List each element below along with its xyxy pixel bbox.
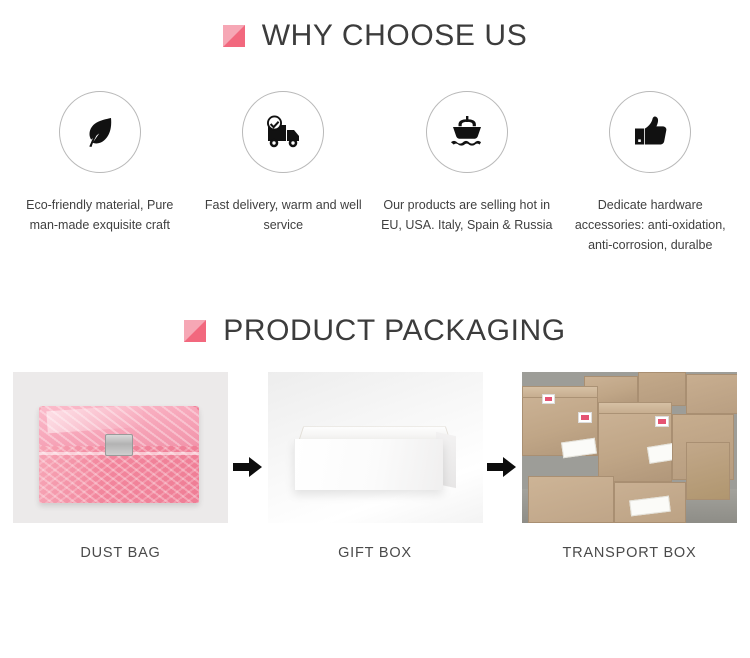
feature-fast-delivery: Fast delivery, warm and well service xyxy=(192,91,376,255)
feature-hardware-accessories: Dedicate hardware accessories: anti-oxid… xyxy=(559,91,743,255)
carton xyxy=(638,372,686,406)
pink-square-icon xyxy=(223,25,245,47)
packaging-caption: GIFT BOX xyxy=(338,545,412,561)
red-sticker xyxy=(542,394,555,404)
features-row: Eco-friendly material, Pure man-made exq… xyxy=(0,91,750,255)
carton xyxy=(686,374,737,414)
stacked-cartons-photo xyxy=(522,372,737,523)
leaf-icon xyxy=(79,111,121,153)
feature-icon-circle xyxy=(242,91,324,173)
product-packaging-heading: PRODUCT PACKAGING xyxy=(0,314,750,348)
carton-top-flap xyxy=(522,386,598,398)
pink-square-icon xyxy=(184,320,206,342)
feature-text: Dedicate hardware accessories: anti-oxid… xyxy=(562,195,738,255)
pink-jewellery-box-photo xyxy=(13,372,228,523)
feature-text: Fast delivery, warm and well service xyxy=(195,195,371,235)
arrow-right-icon xyxy=(231,391,265,542)
packaging-caption: TRANSPORT BOX xyxy=(563,545,697,561)
feature-eco-friendly: Eco-friendly material, Pure man-made exq… xyxy=(8,91,192,255)
red-sticker xyxy=(655,416,669,427)
feature-icon-circle xyxy=(609,91,691,173)
carton-top-flap xyxy=(598,402,672,414)
packaging-items-row: DUST BAG GIFT BOX xyxy=(0,372,750,561)
feature-text: Our products are selling hot in EU, USA.… xyxy=(379,195,555,235)
ship-icon xyxy=(445,111,489,153)
why-choose-us-heading: WHY CHOOSE US xyxy=(0,19,750,53)
arrow-right-icon xyxy=(485,391,519,542)
jewellery-box-clasp xyxy=(105,434,133,456)
carton xyxy=(528,476,614,523)
packaging-caption: DUST BAG xyxy=(80,545,160,561)
feature-icon-circle xyxy=(426,91,508,173)
packaging-item-gift-box: GIFT BOX xyxy=(268,372,483,561)
feature-selling-hot: Our products are selling hot in EU, USA.… xyxy=(375,91,559,255)
carton xyxy=(686,442,730,500)
thumbs-up-icon xyxy=(628,111,672,153)
jewellery-box-body xyxy=(39,406,199,503)
gift-box-front xyxy=(294,439,443,490)
white-gift-box-photo xyxy=(268,372,483,523)
product-packaging-section: PRODUCT PACKAGING DUST BAG xyxy=(0,314,750,561)
why-choose-us-title: WHY CHOOSE US xyxy=(262,19,528,53)
feature-icon-circle xyxy=(59,91,141,173)
feature-text: Eco-friendly material, Pure man-made exq… xyxy=(12,195,188,235)
product-packaging-title: PRODUCT PACKAGING xyxy=(223,314,565,348)
packaging-item-dust-bag: DUST BAG xyxy=(13,372,228,561)
delivery-truck-icon xyxy=(260,111,306,153)
packaging-item-transport-box: TRANSPORT BOX xyxy=(522,372,737,561)
red-sticker xyxy=(578,412,592,423)
